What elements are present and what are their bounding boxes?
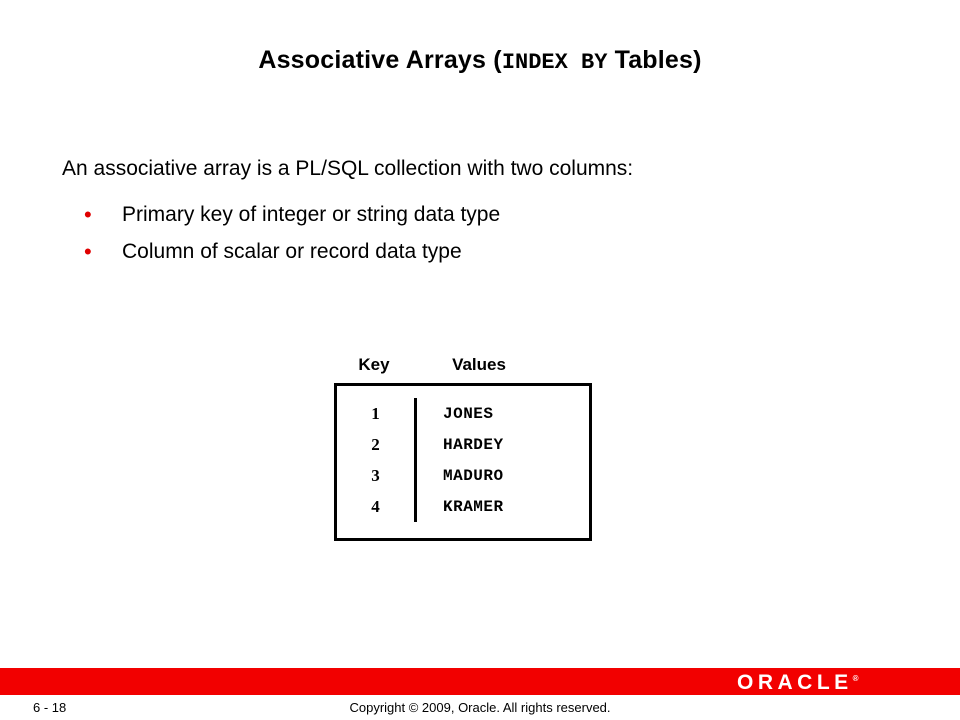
page-title-prefix: Associative Arrays ( (258, 46, 501, 74)
copyright-notice: Copyright © 2009, Oracle. All rights res… (0, 700, 960, 715)
oracle-logo: ORACLE® (737, 671, 859, 695)
list-item: • Primary key of integer or string data … (80, 200, 780, 237)
table-row: 4 KRAMER (337, 491, 589, 522)
page-title-suffix: Tables) (607, 46, 701, 74)
page-title-code-keyword: INDEX BY (502, 50, 608, 75)
bullet-list: • Primary key of integer or string data … (80, 200, 780, 274)
table-row: 2 HARDEY (337, 429, 589, 460)
associative-array-diagram: Key Values 1 JONES 2 HARDEY 3 MADURO 4 K… (334, 355, 592, 541)
table-cell-value: MADURO (417, 467, 589, 485)
table-cell-key: 4 (337, 497, 414, 517)
table-cell-value: KRAMER (417, 498, 589, 516)
array-table: 1 JONES 2 HARDEY 3 MADURO 4 KRAMER (334, 383, 592, 541)
table-cell-key: 3 (337, 466, 414, 486)
diagram-column-headers: Key Values (334, 355, 592, 383)
table-cell-value: HARDEY (417, 436, 589, 454)
list-item-label: Primary key of integer or string data ty… (122, 200, 500, 230)
table-cell-key: 2 (337, 435, 414, 455)
bullet-point-icon: • (80, 237, 122, 267)
oracle-logo-text: ORACLE (737, 671, 853, 694)
list-item: • Column of scalar or record data type (80, 237, 780, 274)
bullet-point-icon: • (80, 200, 122, 230)
table-row: 1 JONES (337, 398, 589, 429)
column-header-values: Values (414, 355, 592, 383)
table-row: 3 MADURO (337, 460, 589, 491)
intro-paragraph: An associative array is a PL/SQL collect… (62, 155, 633, 183)
table-cell-key: 1 (337, 404, 414, 424)
page-title: Associative Arrays (INDEX BY Tables) (0, 46, 960, 75)
list-item-label: Column of scalar or record data type (122, 237, 462, 267)
registered-trademark-icon: ® (853, 674, 859, 683)
column-header-key: Key (334, 355, 414, 383)
table-cell-value: JONES (417, 405, 589, 423)
